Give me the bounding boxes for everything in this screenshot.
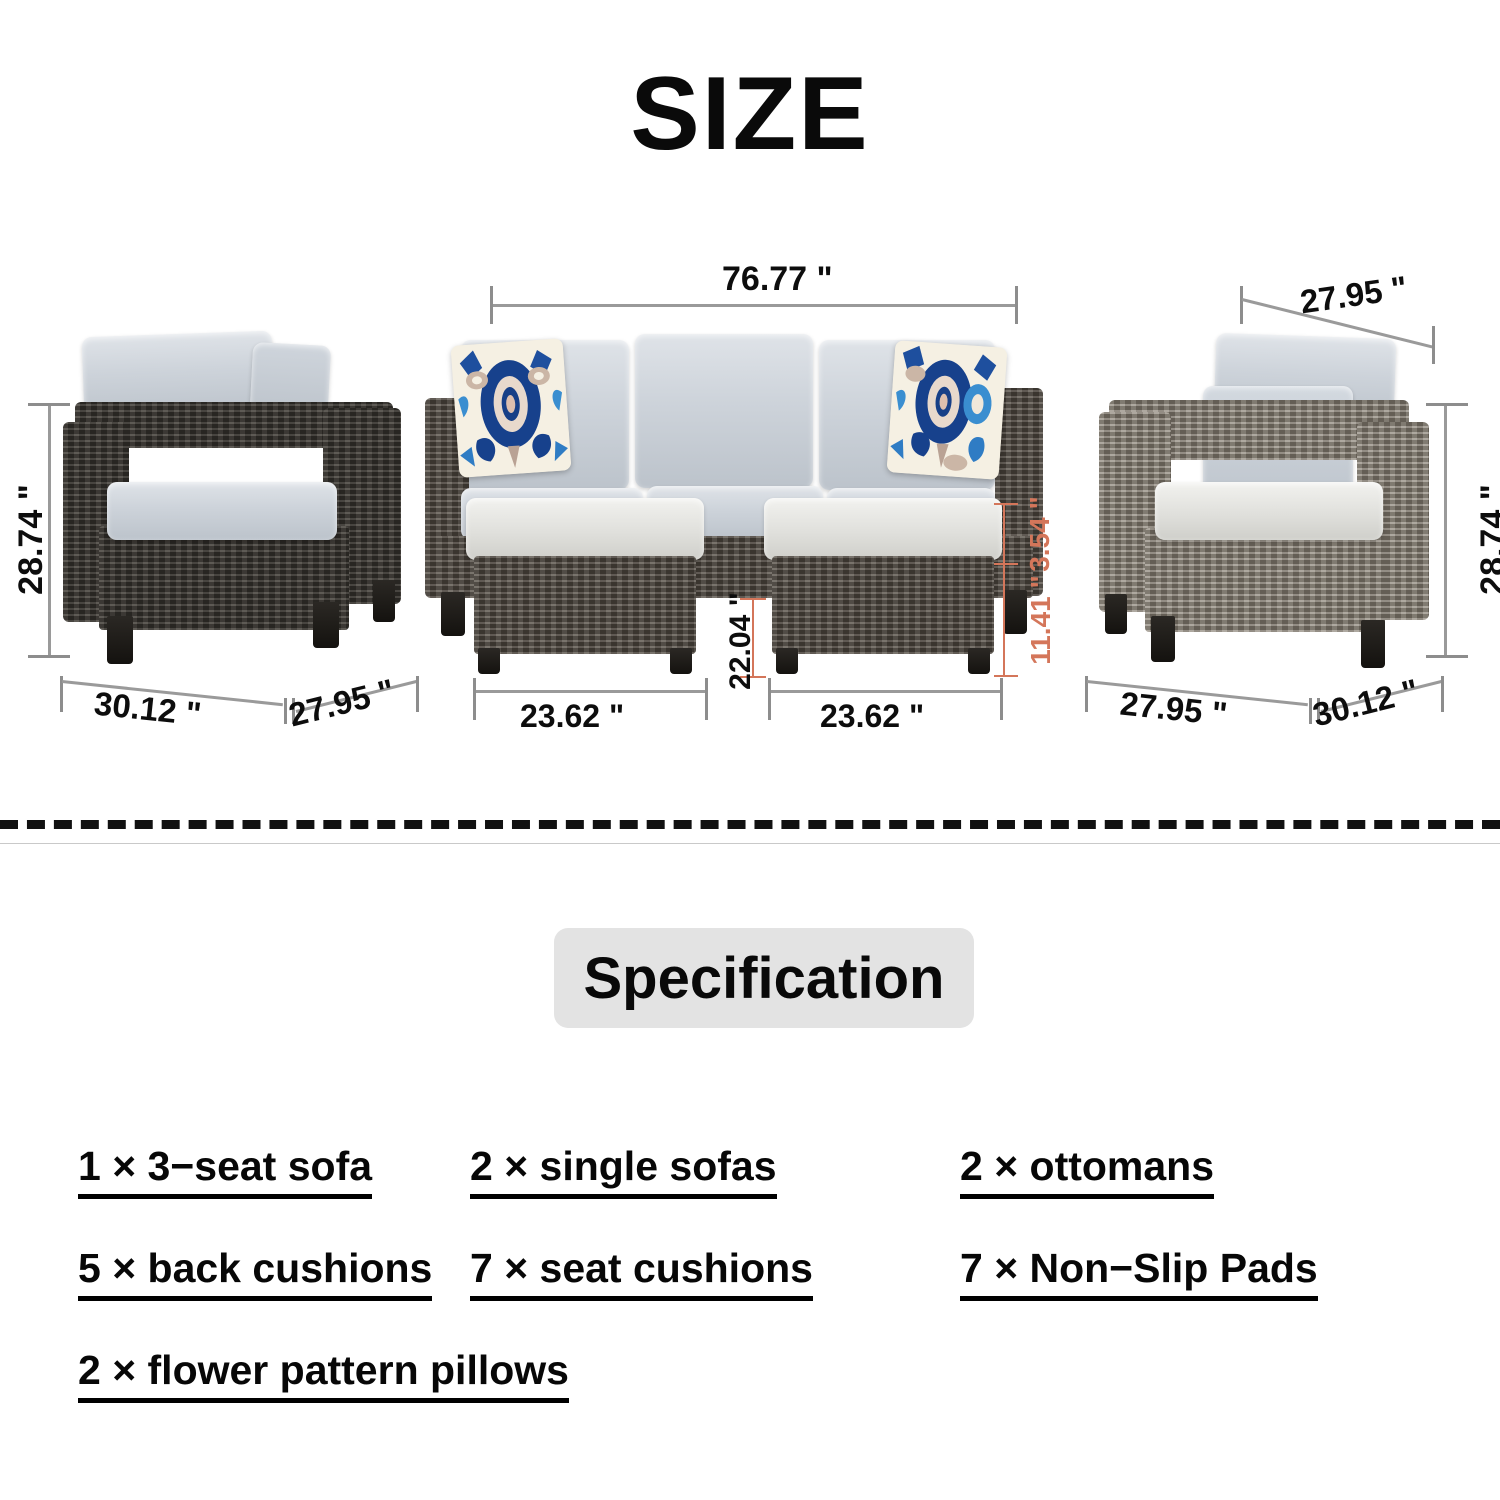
- ottoman-left-width-cap-r: [705, 678, 708, 720]
- product-size-spec-page: SIZE 28.74 ": [0, 0, 1500, 1500]
- dimension-ottoman-depth: 22.04 ": [724, 592, 758, 690]
- sofa-width-cap-left: [490, 286, 493, 324]
- spec-cell: 7 × Non−Slip Pads: [960, 1247, 1420, 1301]
- spec-item: 1 × 3−seat sofa: [78, 1145, 372, 1199]
- right-chair-seat-cushion: [1155, 482, 1383, 540]
- spec-item: 7 × Non−Slip Pads: [960, 1247, 1318, 1301]
- size-diagram: 28.74 " 30.12 " 27.95 ": [0, 0, 1500, 800]
- flower-pattern-pillow-left: [451, 338, 572, 477]
- spec-row-2: 5 × back cushions 7 × seat cushions 7 × …: [0, 1247, 1500, 1301]
- spec-item: 2 × ottomans: [960, 1145, 1214, 1199]
- spec-cell: 7 × seat cushions: [470, 1247, 960, 1301]
- sofa-width-cap-right: [1015, 286, 1018, 324]
- left-armchair: [55, 330, 415, 670]
- cushion-thickness-line: [1003, 503, 1005, 565]
- spec-cell: 1 × 3−seat sofa: [0, 1145, 470, 1199]
- dimension-ottoman-height: 11.41 ": [1025, 575, 1057, 665]
- right-chair-front-panel: [1145, 528, 1385, 632]
- dimension-cushion-thickness: 3.54 ": [1024, 496, 1056, 572]
- ottoman-right: [758, 498, 1008, 678]
- ottoman-left-width-line: [473, 690, 707, 693]
- right-armchair: [1085, 330, 1445, 670]
- ottoman-right-leg-2: [968, 648, 990, 674]
- ottoman-height-line: [1003, 565, 1005, 677]
- ikat-pattern-right: [887, 340, 1008, 479]
- spec-cell: 2 × flower pattern pillows: [0, 1349, 960, 1403]
- right-chair-height-cap-top: [1426, 403, 1468, 406]
- ottoman-left-cushion: [466, 498, 704, 560]
- spec-item: 7 × seat cushions: [470, 1247, 813, 1301]
- spec-cell: 2 × single sofas: [470, 1145, 960, 1199]
- dimension-left-chair-height: 28.74 ": [12, 484, 51, 595]
- spec-cell: 2 × ottomans: [960, 1145, 1420, 1199]
- flower-pattern-pillow-right: [887, 340, 1008, 479]
- spec-row-3: 2 × flower pattern pillows: [0, 1349, 1500, 1403]
- ottoman-left-width-cap-l: [473, 678, 476, 720]
- specification-badge: Specification: [554, 928, 974, 1028]
- ottoman-right-width-cap-r: [1000, 678, 1003, 720]
- ottoman-right-width-line: [768, 690, 1002, 693]
- dimension-right-chair-height: 28.74 ": [1474, 484, 1500, 595]
- spec-item: 2 × flower pattern pillows: [78, 1349, 569, 1403]
- dimension-ottoman-right-width: 23.62 ": [820, 698, 924, 735]
- sofa-width-line: [490, 304, 1018, 307]
- left-chair-height-cap-top: [28, 403, 70, 406]
- section-divider-shadow: [0, 843, 1500, 844]
- ottoman-left: [460, 498, 710, 678]
- ottoman-right-cushion: [764, 498, 1002, 560]
- dimension-ottoman-left-width: 23.62 ": [520, 698, 624, 735]
- dimension-sofa-width: 76.77 ": [722, 260, 833, 299]
- ottoman-right-width-cap-l: [768, 678, 771, 720]
- ottoman-right-leg-1: [776, 648, 798, 674]
- right-chair-height-cap-bottom: [1426, 655, 1468, 658]
- left-chair-leg-side: [373, 580, 395, 622]
- right-chair-leg-back: [1361, 620, 1385, 668]
- specification-list: 1 × 3−seat sofa 2 × single sofas 2 × ott…: [0, 1145, 1500, 1403]
- cushion-thickness-cap-bottom: [994, 563, 1018, 565]
- right-chair-height-line: [1444, 403, 1447, 657]
- spec-row-1: 1 × 3−seat sofa 2 × single sofas 2 × ott…: [0, 1145, 1500, 1199]
- left-chair-seat-cushion: [107, 482, 337, 540]
- left-chair-height-cap-bottom: [28, 655, 70, 658]
- ikat-pattern-left: [451, 338, 572, 477]
- right-chair-leg-front: [1151, 616, 1175, 662]
- ottoman-left-frame: [474, 556, 696, 654]
- sofa-back-cushion-2: [635, 334, 813, 488]
- spec-item: 5 × back cushions: [78, 1247, 432, 1301]
- cushion-thickness-cap-top: [994, 503, 1018, 505]
- ottoman-height-cap-bottom: [994, 675, 1018, 677]
- ottoman-left-leg-1: [478, 648, 500, 674]
- section-divider: [0, 820, 1500, 829]
- left-chair-leg-front: [107, 616, 133, 664]
- left-chair-leg-back: [313, 602, 339, 648]
- right-chair-leg-side: [1105, 594, 1127, 634]
- spec-cell: 5 × back cushions: [0, 1247, 470, 1301]
- spec-item: 2 × single sofas: [470, 1145, 777, 1199]
- ottoman-right-frame: [772, 556, 994, 654]
- ottoman-left-leg-2: [670, 648, 692, 674]
- left-chair-front-panel: [99, 526, 349, 630]
